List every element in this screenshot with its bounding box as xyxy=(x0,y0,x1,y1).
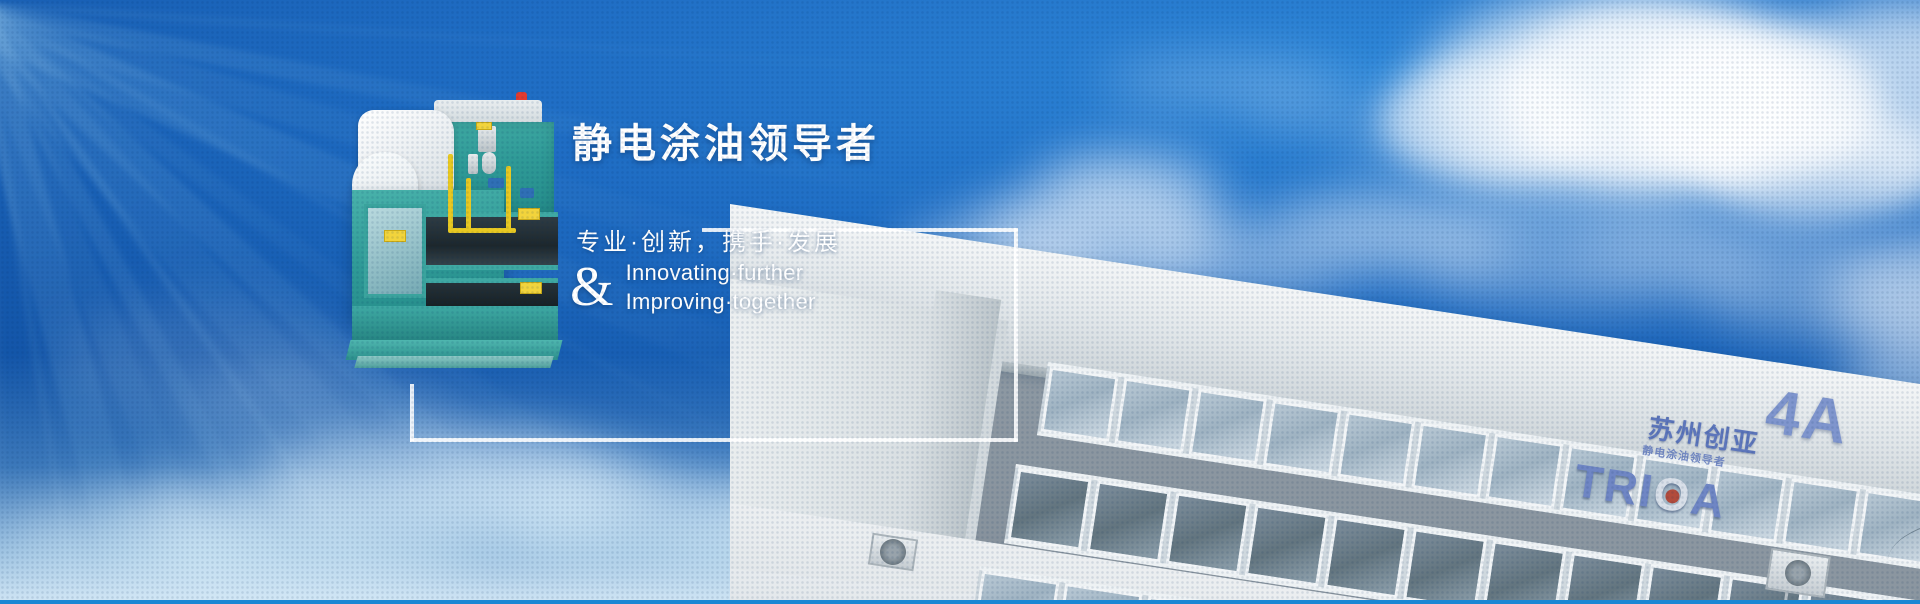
hero-banner: TRIOA 苏州创亚 静电涂油领导者 4A 苏州创亚 xyxy=(0,0,1920,604)
hero-subline: 专业·创新，携手·发展 xyxy=(576,222,841,257)
building-rating-4a: 4A xyxy=(1761,376,1854,459)
english-line-2: Improving·together xyxy=(626,287,816,316)
machine-warning-label xyxy=(520,282,542,294)
bottom-accent-strip xyxy=(0,600,1920,604)
machine-foot-rail xyxy=(354,356,553,368)
english-line-1: Innovating·further xyxy=(626,258,816,287)
machine-cylinder xyxy=(468,154,478,174)
machine-yellow-pipe xyxy=(448,154,453,232)
machine-warning-label xyxy=(384,230,406,242)
machine-sensor-block xyxy=(520,188,534,198)
air-conditioner-unit xyxy=(868,533,918,572)
machine-yellow-pipe xyxy=(506,166,511,230)
machine-warning-label xyxy=(518,208,540,220)
machine-yellow-pipe xyxy=(448,228,516,233)
product-machine-image xyxy=(330,92,590,382)
hero-english-lines: Innovating·further Improving·together xyxy=(626,258,816,316)
machine-coating-chamber-upper xyxy=(426,212,558,270)
brand-latin-left: TRI xyxy=(1571,454,1658,517)
factory-building: TRIOA 苏州创亚 静电涂油领导者 4A 苏州创亚 xyxy=(730,164,1920,604)
ampersand-glyph: & xyxy=(570,262,614,312)
machine-sensor-block xyxy=(488,178,504,188)
machine-yellow-pipe xyxy=(466,178,471,232)
machine-regulator xyxy=(482,152,496,174)
hero-copy: 静电涂油领导者 xyxy=(572,122,1042,166)
air-conditioner-unit xyxy=(1765,548,1831,598)
machine-inspection-door xyxy=(364,204,426,298)
brand-latin-o: O xyxy=(1650,466,1695,523)
hero-english-block: & Innovating·further Improving·together xyxy=(570,258,816,316)
hero-headline: 静电涂油领导者 xyxy=(572,122,1042,166)
machine-warning-label xyxy=(476,122,492,130)
